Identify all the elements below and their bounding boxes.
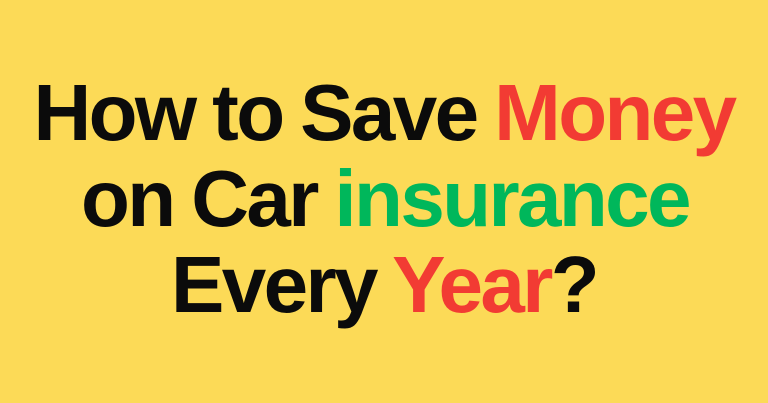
headline-line-1: How to Save Money bbox=[14, 70, 754, 156]
headline-line-3-highlight-year: Year bbox=[392, 240, 551, 329]
headline-question-mark: ? bbox=[551, 240, 597, 329]
headline-line-1-black-text: How to Save bbox=[33, 68, 494, 157]
headline-line-3: Every Year? bbox=[14, 242, 754, 328]
headline-block: How to Save Money on Car insurance Every… bbox=[0, 70, 768, 328]
headline-line-2: on Car insurance bbox=[16, 156, 754, 242]
thumbnail-canvas: How to Save Money on Car insurance Every… bbox=[0, 0, 768, 403]
headline-line-1-highlight-money: Money bbox=[494, 68, 734, 157]
headline-line-2-highlight-insurance: insurance bbox=[334, 154, 689, 243]
headline-line-2-black-text: on Car bbox=[81, 154, 334, 243]
headline-line-3-black-text: Every bbox=[171, 240, 392, 329]
